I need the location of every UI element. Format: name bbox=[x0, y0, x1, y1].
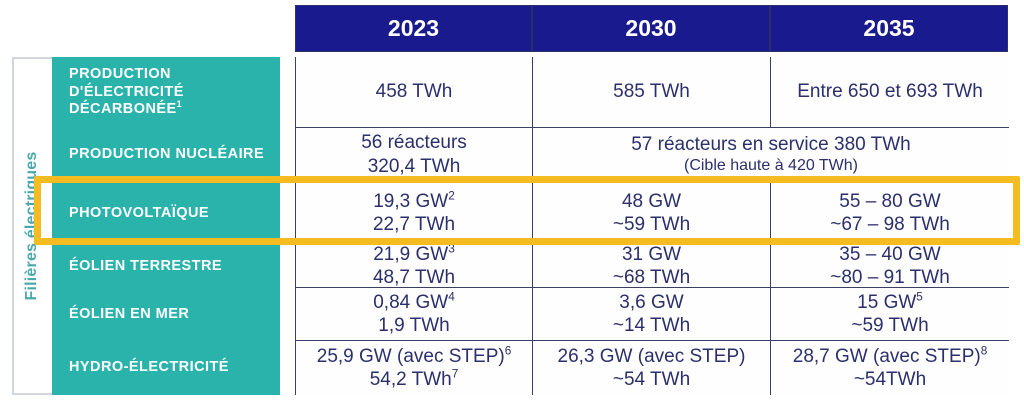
cell-line: 585 TWh bbox=[613, 80, 690, 103]
cell-line: 25,9 GW (avec STEP)6 bbox=[317, 345, 512, 368]
row-label-text: PRODUCTION D'ÉLECTRICITÉ DÉCARBONÉE1 bbox=[69, 66, 272, 119]
cell-line: 48,7 TWh bbox=[373, 266, 455, 288]
table-cell-r3-c1: 31 GW~68 TWh bbox=[533, 245, 771, 288]
cell-line: 458 TWh bbox=[376, 80, 453, 103]
cell-line: 0,84 GW4 bbox=[373, 291, 455, 314]
cell-line: (Cible haute à 420 TWh) bbox=[684, 156, 858, 176]
footnote-marker: 1 bbox=[177, 100, 182, 110]
table-cell-r4-c0: 0,84 GW41,9 TWh bbox=[296, 288, 533, 341]
table-cell-r5-c1: 26,3 GW (avec STEP)~54 TWh bbox=[533, 341, 771, 395]
footnote-marker: 5 bbox=[916, 291, 923, 304]
column-header-2030: 2030 bbox=[532, 5, 770, 52]
cell-line: 26,3 GW (avec STEP) bbox=[558, 345, 746, 368]
footnote-marker: 3 bbox=[448, 245, 455, 256]
table-cell-r3-c2: 35 – 40 GW~80 – 91 TWh bbox=[771, 245, 1009, 288]
cell-line: ~14 TWh bbox=[613, 314, 690, 337]
row-label-5: HYDRO-ÉLECTRICITÉ bbox=[52, 341, 280, 395]
row-label-text: PRODUCTION NUCLÉAIRE bbox=[69, 146, 264, 164]
table-cell-r1-c0: 56 réacteurs320,4 TWh bbox=[296, 128, 533, 182]
column-header-2023: 2023 bbox=[295, 5, 532, 52]
table-cell-r1-c1: 57 réacteurs en service 380 TWh(Cible ha… bbox=[533, 128, 1009, 182]
table-cell-r3-c0: 21,9 GW348,7 TWh bbox=[296, 245, 533, 288]
cell-line: ~59 TWh bbox=[613, 213, 690, 236]
table-cell-r2-c1: 48 GW~59 TWh bbox=[533, 182, 771, 245]
cell-line: 31 GW bbox=[622, 245, 681, 266]
cell-line: ~54 TWh bbox=[613, 368, 690, 391]
cell-line: 55 – 80 GW bbox=[839, 190, 940, 213]
row-label-text: HYDRO-ÉLECTRICITÉ bbox=[69, 359, 229, 377]
row-label-0: PRODUCTION D'ÉLECTRICITÉ DÉCARBONÉE1 bbox=[52, 57, 280, 128]
row-separator-line bbox=[69, 242, 265, 244]
row-label-2: PHOTOVOLTAÏQUE bbox=[52, 182, 280, 245]
table-cell-r2-c0: 19,3 GW222,7 TWh bbox=[296, 182, 533, 245]
table-figure-root: Filières électriques PRODUCTION D'ÉLECTR… bbox=[0, 0, 1024, 407]
cell-line: ~67 – 98 TWh bbox=[830, 213, 950, 236]
footnote-marker: 4 bbox=[448, 291, 455, 304]
footnote-marker: 2 bbox=[448, 190, 455, 203]
cell-line: 15 GW5 bbox=[857, 291, 923, 314]
cell-line: Entre 650 et 693 TWh bbox=[797, 80, 983, 103]
cell-line: ~59 TWh bbox=[851, 314, 928, 337]
cell-line: 19,3 GW2 bbox=[373, 190, 455, 213]
row-label-text: ÉOLIEN EN MER bbox=[69, 306, 189, 324]
cell-line: 22,7 TWh bbox=[373, 213, 455, 236]
cell-line: 35 – 40 GW bbox=[839, 245, 940, 266]
cell-line: 320,4 TWh bbox=[368, 155, 461, 178]
table-cell-r2-c2: 55 – 80 GW~67 – 98 TWh bbox=[771, 182, 1009, 245]
cell-line: 54,2 TWh7 bbox=[370, 368, 459, 391]
row-label-4: ÉOLIEN EN MER bbox=[52, 288, 280, 341]
table-cell-r5-c2: 28,7 GW (avec STEP)8~54TWh bbox=[771, 341, 1009, 395]
table-cell-r0-c1: 585 TWh bbox=[533, 57, 771, 128]
cell-line: 1,9 TWh bbox=[378, 314, 449, 337]
side-label-filieres-electriques: Filières électriques bbox=[12, 57, 52, 395]
cell-line: ~68 TWh bbox=[613, 266, 690, 288]
row-label-3: ÉOLIEN TERRESTRE bbox=[52, 245, 280, 288]
table-cell-r0-c2: Entre 650 et 693 TWh bbox=[771, 57, 1009, 128]
row-label-column: PRODUCTION D'ÉLECTRICITÉ DÉCARBONÉE1PROD… bbox=[52, 57, 280, 395]
table-cell-r5-c0: 25,9 GW (avec STEP)654,2 TWh7 bbox=[296, 341, 533, 395]
table-cell-r0-c0: 458 TWh bbox=[296, 57, 533, 128]
row-label-text: ÉOLIEN TERRESTRE bbox=[69, 258, 222, 276]
cell-line: ~54TWh bbox=[854, 368, 926, 391]
cell-line: 56 réacteurs bbox=[361, 131, 467, 154]
footnote-marker: 6 bbox=[505, 345, 512, 358]
table-cell-r4-c1: 3,6 GW~14 TWh bbox=[533, 288, 771, 341]
cell-line: 21,9 GW3 bbox=[373, 245, 455, 266]
cell-line: 57 réacteurs en service 380 TWh bbox=[631, 133, 911, 156]
column-header-2035: 2035 bbox=[770, 5, 1008, 52]
row-label-text: PHOTOVOLTAÏQUE bbox=[69, 205, 209, 223]
row-label-1: PRODUCTION NUCLÉAIRE bbox=[52, 128, 280, 182]
data-grid: 458 TWh585 TWhEntre 650 et 693 TWh56 réa… bbox=[295, 57, 1008, 395]
cell-line: 3,6 GW bbox=[619, 291, 683, 314]
table-cell-r4-c2: 15 GW5~59 TWh bbox=[771, 288, 1009, 341]
cell-line: ~80 – 91 TWh bbox=[830, 266, 950, 288]
cell-line: 28,7 GW (avec STEP)8 bbox=[793, 345, 988, 368]
cell-line: 48 GW bbox=[622, 190, 681, 213]
footnote-marker: 7 bbox=[452, 368, 459, 381]
footnote-marker: 8 bbox=[981, 345, 988, 358]
